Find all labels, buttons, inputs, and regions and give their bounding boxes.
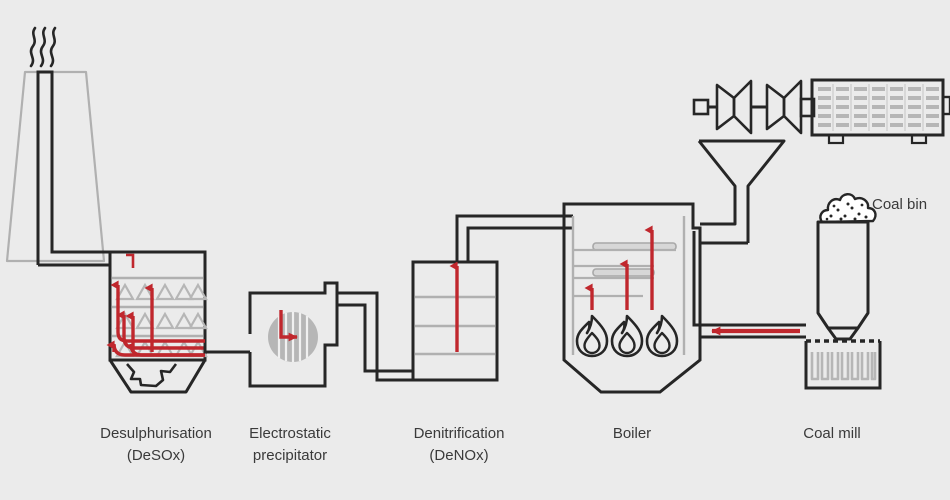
label-denox-line2: (DeNOx) xyxy=(429,447,488,464)
label-denox-line1: Denitrification xyxy=(414,425,505,442)
label-desox-line1: Desulphurisation xyxy=(100,425,212,442)
label-coal-bin: Coal bin xyxy=(872,196,927,213)
label-boiler: Boiler xyxy=(613,425,651,442)
label-desox-line2: (DeSOx) xyxy=(127,447,185,464)
label-esp-line1: Electrostatic xyxy=(249,425,331,442)
plant-diagram-svg: Desulphurisation (DeSOx) Electrostatic p… xyxy=(0,0,950,500)
label-coal-mill: Coal mill xyxy=(803,425,861,442)
label-esp-line2: precipitator xyxy=(253,447,327,464)
process-diagram: Desulphurisation (DeSOx) Electrostatic p… xyxy=(0,0,950,500)
